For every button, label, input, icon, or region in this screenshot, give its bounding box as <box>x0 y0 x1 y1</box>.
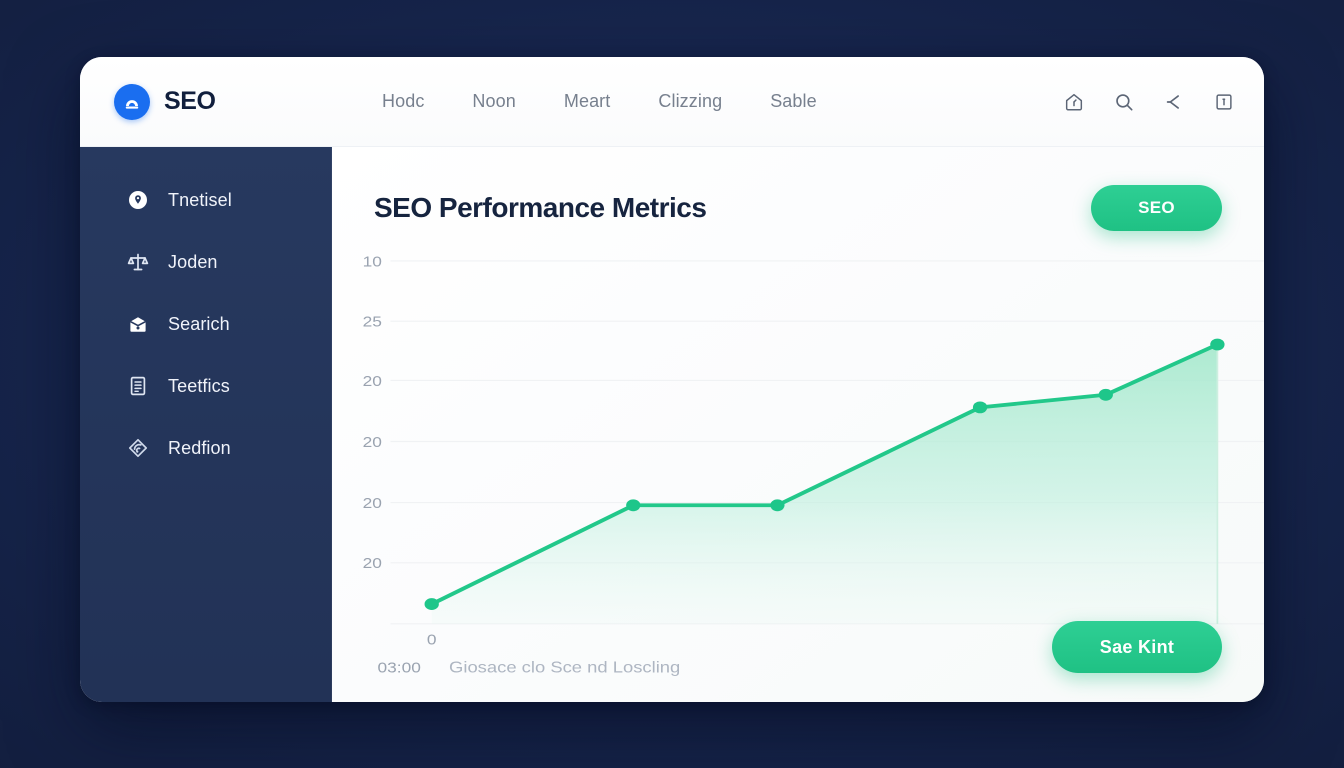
save-button[interactable]: Sae Kint <box>1052 621 1222 673</box>
location-pin-icon <box>126 188 150 212</box>
y-tick-3: 20 <box>363 435 382 450</box>
app-window: SEO Hodc Noon Meart Clizzing Sable <box>80 57 1264 702</box>
brand-name: SEO <box>164 87 216 116</box>
sidebar-item-label-0: Tnetisel <box>168 190 232 211</box>
topnav-item-0[interactable]: Hodc <box>382 91 424 112</box>
search-icon[interactable] <box>1112 90 1136 114</box>
main-content: SEO Performance Metrics SEO <box>332 147 1264 702</box>
document-lines-icon <box>126 374 150 398</box>
topnav-item-2[interactable]: Meart <box>564 91 611 112</box>
cloud-arch-logo-icon <box>114 84 150 120</box>
sidebar-item-label-1: Joden <box>168 252 218 273</box>
window-body: Tnetisel Joden <box>80 147 1264 702</box>
page-title: SEO Performance Metrics <box>374 192 706 224</box>
topnav-item-1[interactable]: Noon <box>472 91 515 112</box>
main-header: SEO Performance Metrics SEO <box>374 185 1222 231</box>
y-tick-5: 20 <box>363 556 382 571</box>
data-point <box>626 499 640 511</box>
y-tick-0: 10 <box>363 255 382 270</box>
sidebar-item-label-3: Teetfics <box>168 376 230 397</box>
y-axis-labels: 10 25 20 20 20 20 <box>363 255 382 572</box>
x-tick-1: 03:00 <box>378 661 422 676</box>
topnav-item-3[interactable]: Clizzing <box>658 91 722 112</box>
sidebar-item-joden[interactable]: Joden <box>80 231 331 293</box>
scales-icon <box>126 250 150 274</box>
sidebar-item-tnetisel[interactable]: Tnetisel <box>80 169 331 231</box>
x-axis-labels: 0 03:00 Giosace clo Sce nd Loscling <box>378 633 681 676</box>
seo-button[interactable]: SEO <box>1091 185 1222 231</box>
data-point <box>425 598 439 610</box>
sidebar-item-teetfics[interactable]: Teetfics <box>80 355 331 417</box>
screen: SEO Hodc Noon Meart Clizzing Sable <box>0 0 1344 768</box>
sidebar-item-label-4: Redfion <box>168 438 231 459</box>
y-tick-1: 25 <box>363 315 382 330</box>
data-point <box>1210 339 1224 351</box>
inbox-icon <box>126 312 150 336</box>
document-icon[interactable] <box>1212 90 1236 114</box>
x-axis-caption: Giosace clo Sce nd Loscling <box>449 659 680 676</box>
topnav-item-4[interactable]: Sable <box>770 91 817 112</box>
top-icon-group <box>1062 90 1236 114</box>
top-navigation: Hodc Noon Meart Clizzing Sable <box>366 91 1062 112</box>
y-tick-4: 20 <box>363 496 382 511</box>
signal-rhombus-icon <box>126 436 150 460</box>
share-icon[interactable] <box>1162 90 1186 114</box>
sidebar-item-searich[interactable]: Searich <box>80 293 331 355</box>
sidebar-item-label-2: Searich <box>168 314 230 335</box>
brand[interactable]: SEO <box>114 84 366 120</box>
sidebar: Tnetisel Joden <box>80 147 332 702</box>
top-bar: SEO Hodc Noon Meart Clizzing Sable <box>80 57 1264 147</box>
home-icon[interactable] <box>1062 90 1086 114</box>
y-tick-2: 20 <box>363 374 382 389</box>
x-tick-0: 0 <box>427 633 437 648</box>
data-point <box>1099 389 1113 401</box>
sidebar-item-redfion[interactable]: Redfion <box>80 417 331 479</box>
data-point <box>973 401 987 413</box>
data-point <box>770 499 784 511</box>
